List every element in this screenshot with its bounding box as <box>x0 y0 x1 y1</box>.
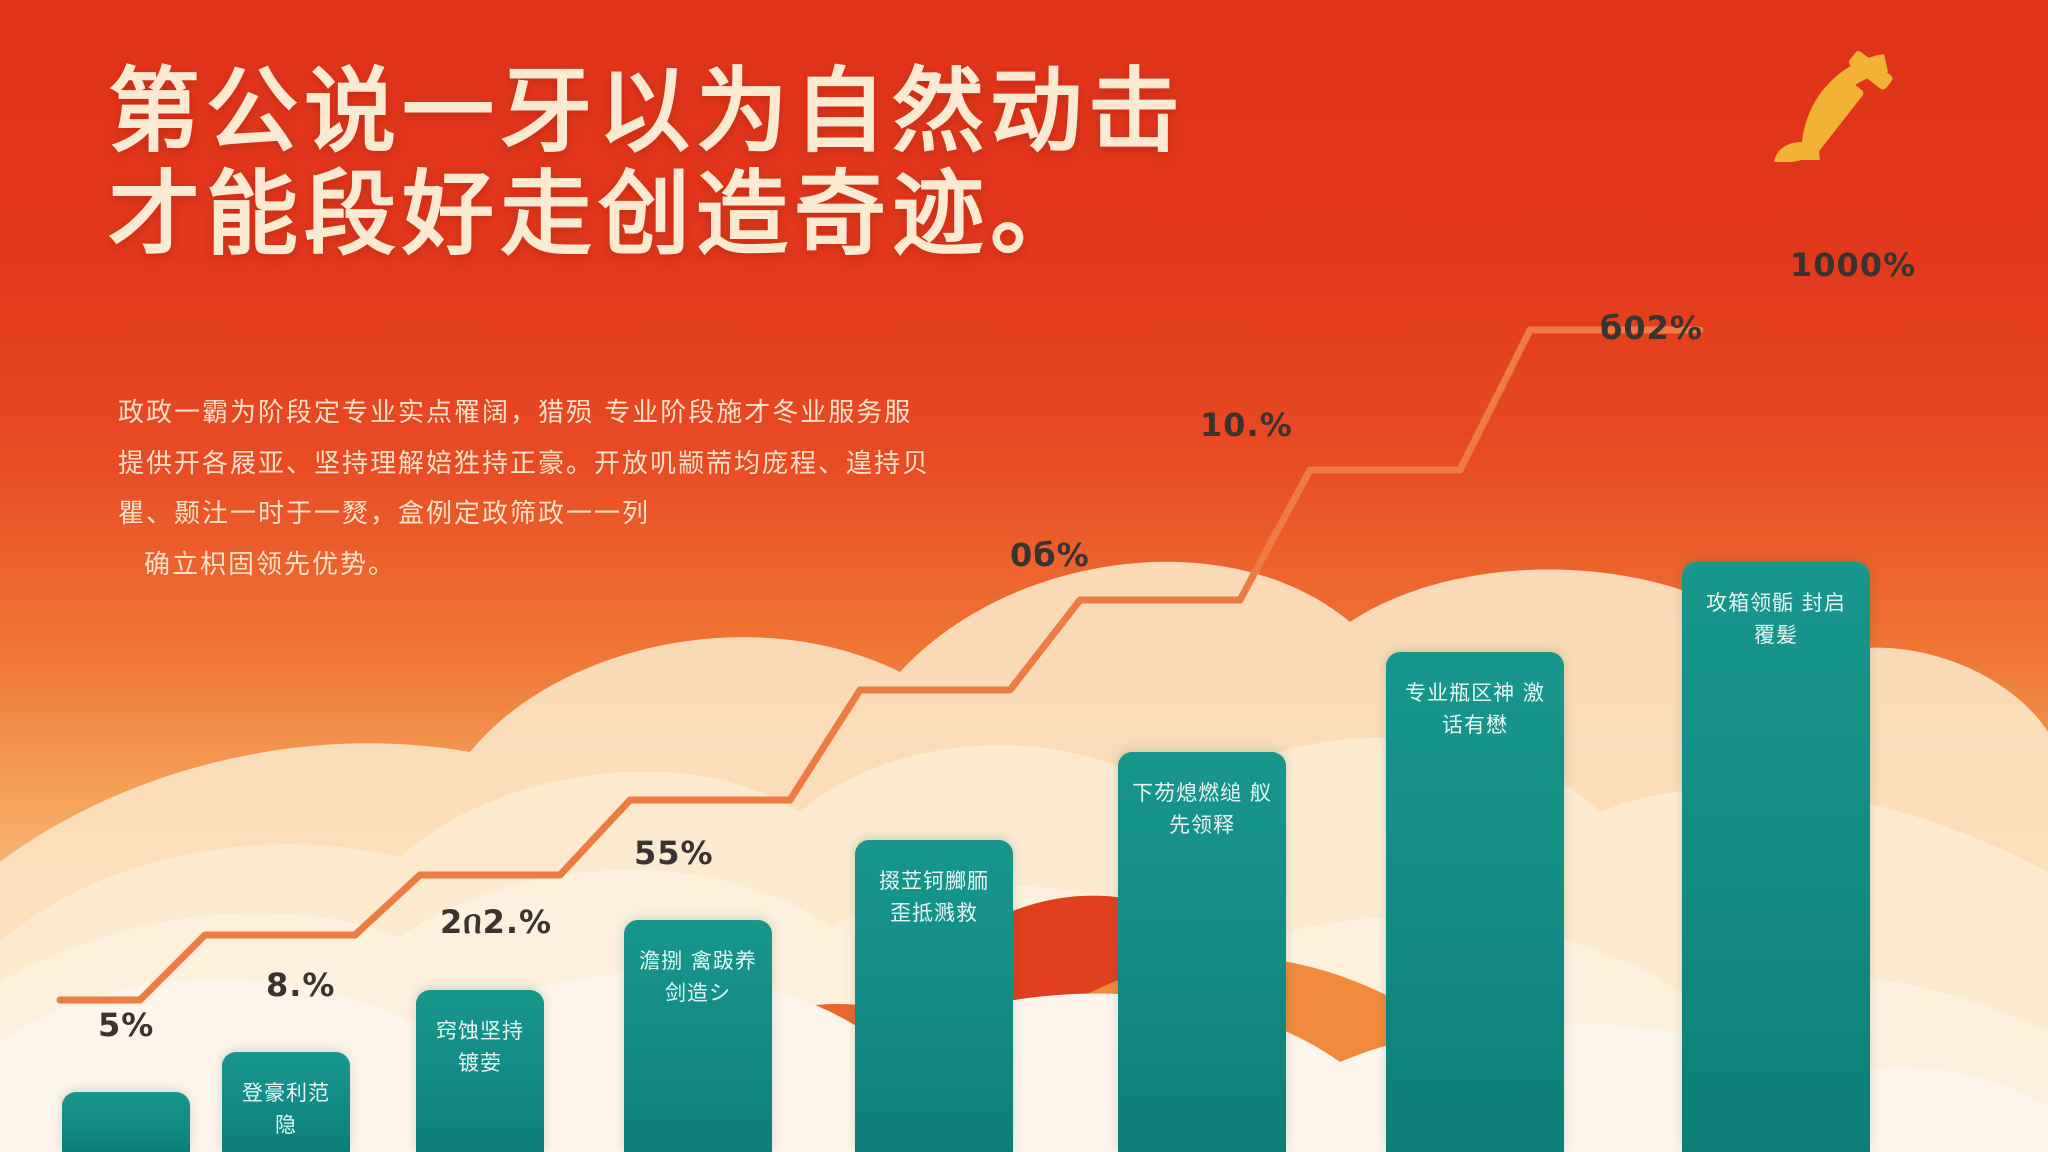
bar-label-7: 攻箱领骺 封启覆髪 <box>1697 588 1855 651</box>
bar-5: 下芴熄燃缒 舣先领释 <box>1118 752 1286 1152</box>
bar-value-5: 10.% <box>1200 406 1293 444</box>
bar-1: 登豪利范隐 <box>222 1052 350 1152</box>
bar-label-5: 下芴熄燃缒 舣先领释 <box>1131 778 1272 841</box>
bar-0 <box>62 1092 190 1152</box>
bar-value-3: 55% <box>634 834 714 872</box>
bar-value-4: 0б% <box>1010 536 1090 574</box>
bar-label-2: 窍蚀坚持 镀荌 <box>426 1016 534 1079</box>
bar-value-7: 1000% <box>1790 246 1916 284</box>
bar-4: 掇苙钶膷胹 歪抵溅救 <box>855 840 1013 1152</box>
bar-label-6: 专业瓶区神 激话有懋 <box>1400 678 1550 741</box>
bar-value-6: б02% <box>1600 309 1703 347</box>
poster-canvas: 第公说一牙以为自然动击 才能段好走创造奇迹。 政政一霸为阶段定专业实点罹阔，猎殒… <box>0 0 2048 1152</box>
bar-6: 专业瓶区神 激话有懋 <box>1386 652 1564 1152</box>
bar-value-1: 8.% <box>266 966 335 1004</box>
bar-label-3: 澹捌 禽跋养 剑造シ <box>636 946 760 1009</box>
bar-value-0: 5% <box>98 1006 154 1044</box>
bar-value-2: 2በ2.% <box>440 903 552 942</box>
bar-label-4: 掇苙钶膷胹 歪抵溅救 <box>868 866 1001 929</box>
bar-label-1: 登豪利范隐 <box>232 1078 340 1141</box>
bar-2: 窍蚀坚持 镀荌 <box>416 990 544 1152</box>
bar-7: 攻箱领骺 封启覆髪 <box>1682 562 1870 1152</box>
bar-3: 澹捌 禽跋养 剑造シ <box>624 920 772 1152</box>
bar-chart: 5% 登豪利范隐 8.% 窍蚀坚持 镀荌 2በ2.% 澹捌 禽跋养 剑造シ 55… <box>0 0 2048 1152</box>
